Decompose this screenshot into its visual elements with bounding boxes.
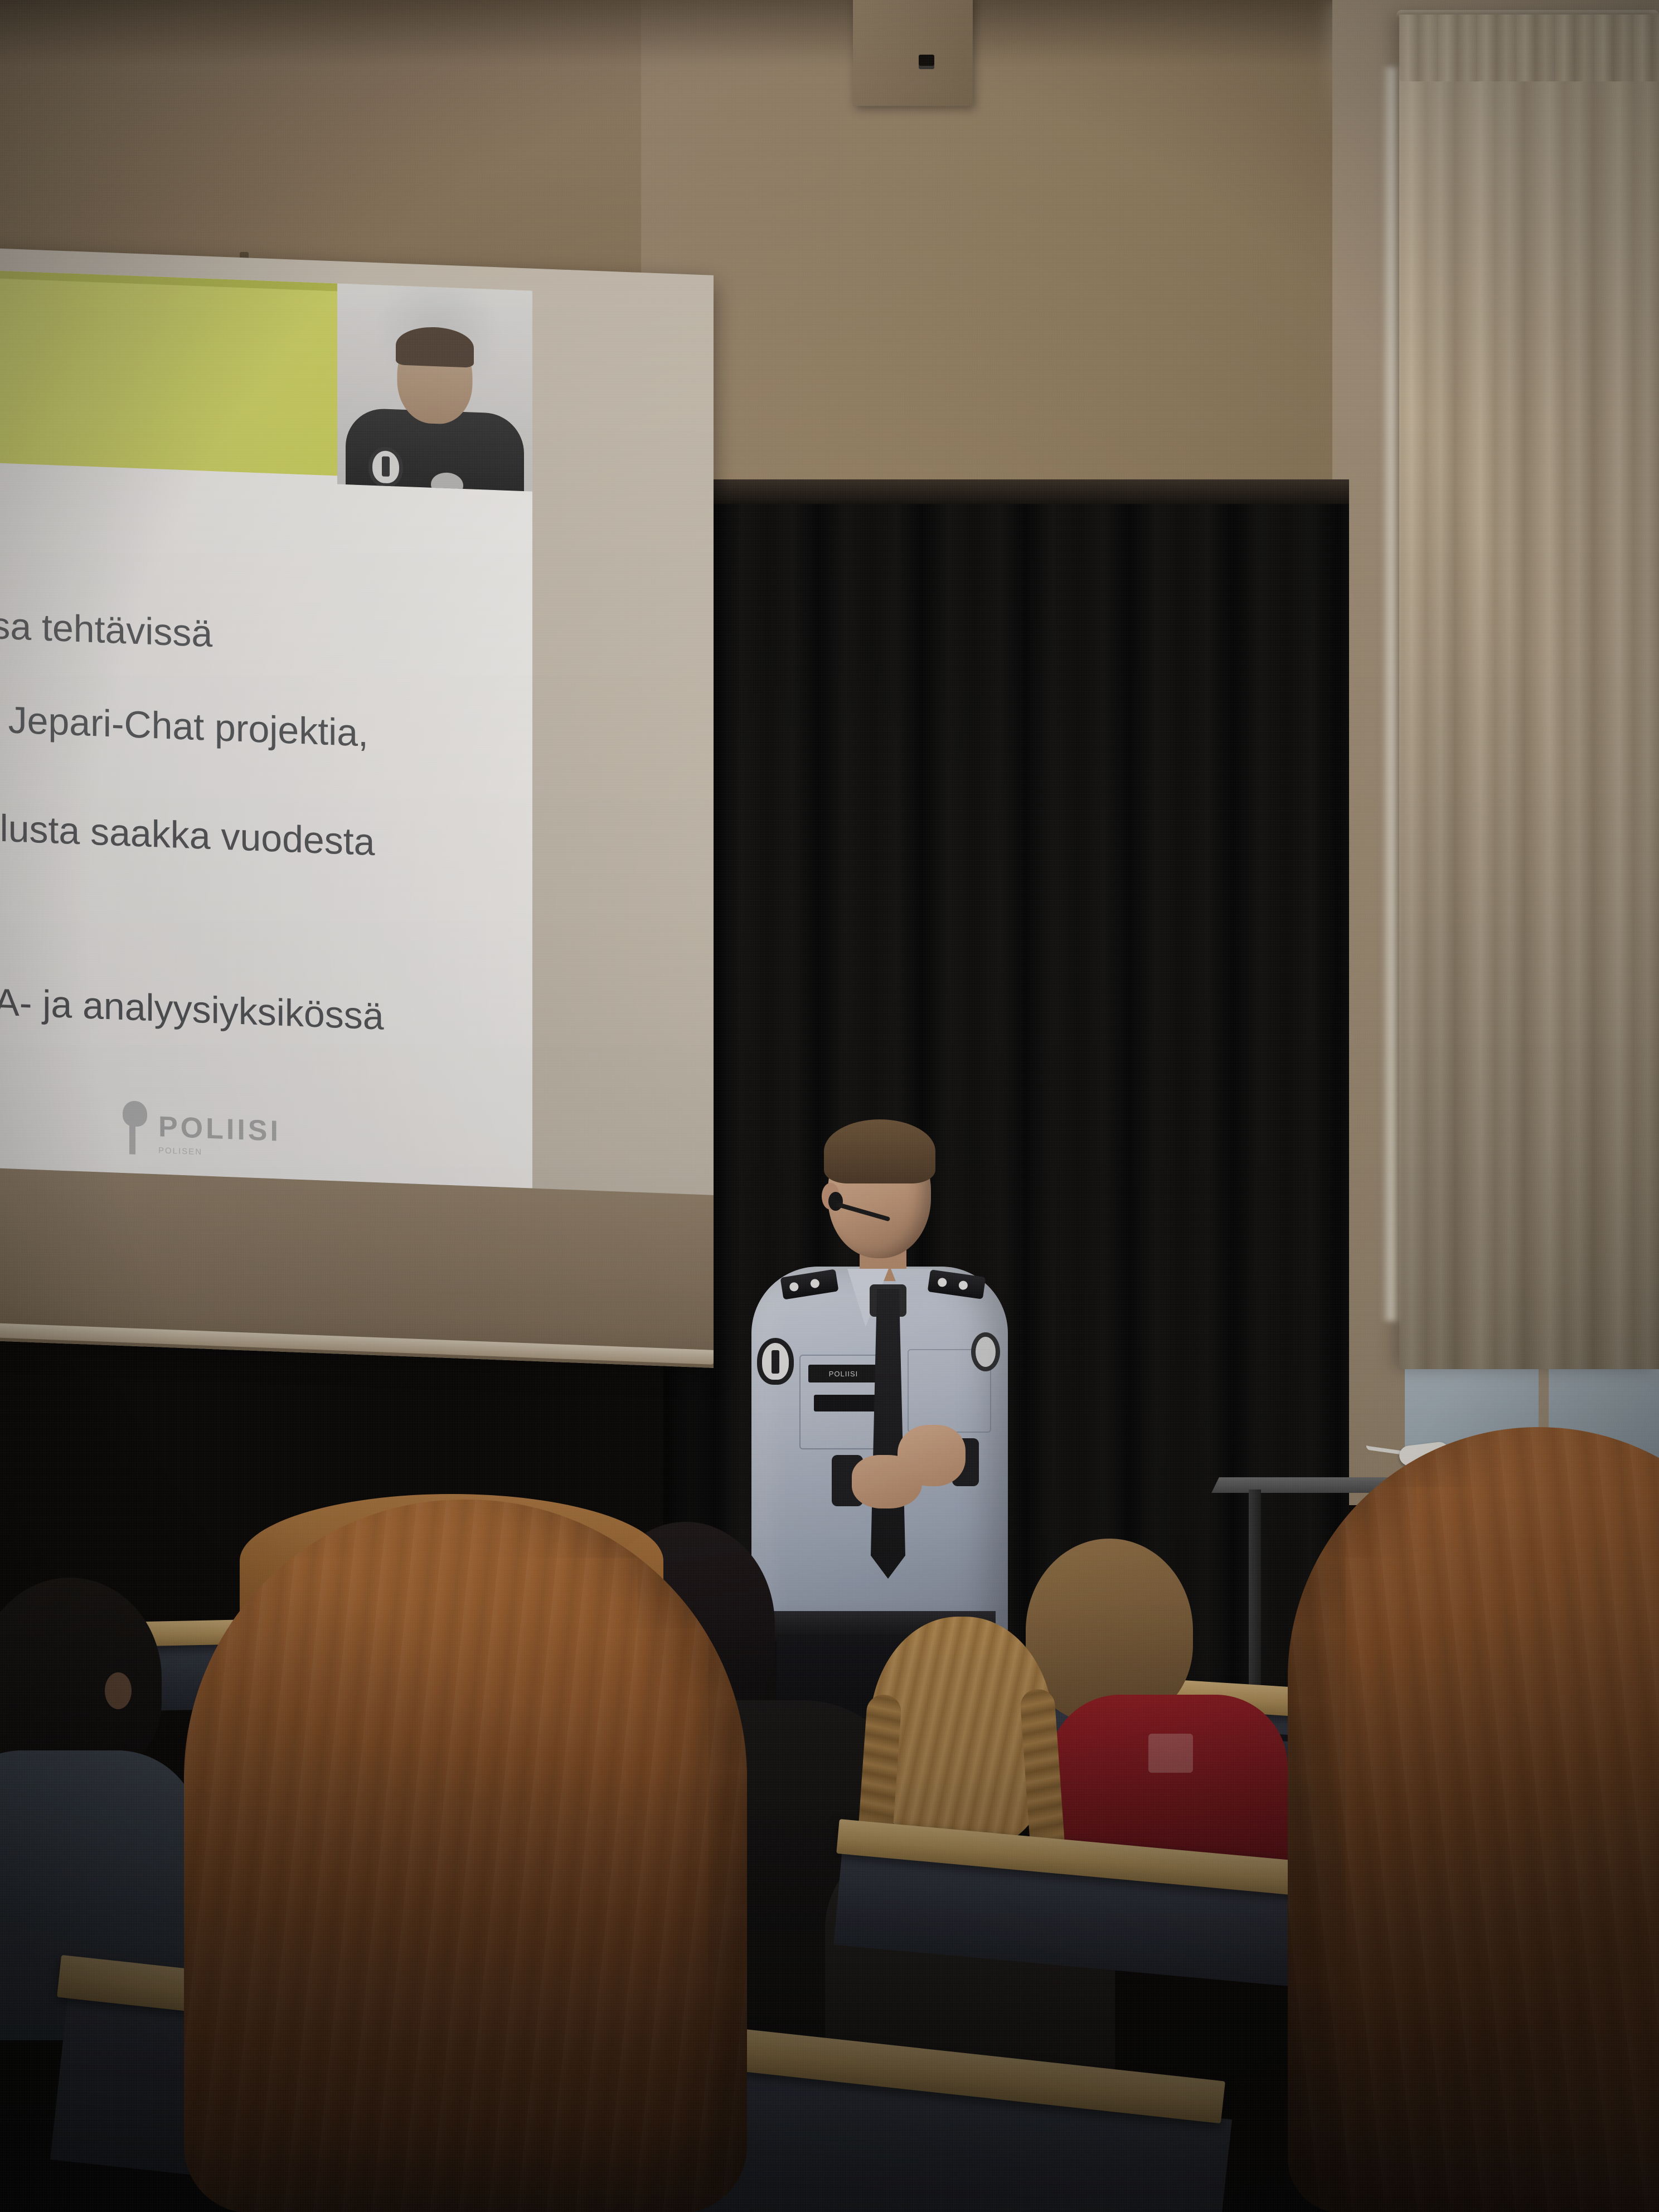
photo-scene: silauri 007 lussa erilaisissa tehtävissä [0,0,1659,2212]
audience-auburn-hair [1288,1427,1659,2212]
audience-ginger-hair [184,1500,747,2212]
curtain-edge-highlight [1381,67,1400,1321]
poliisi-emblem-icon [123,1100,148,1155]
slide-portrait-photo [337,262,532,492]
officer-shoulder-badge-icon [757,1338,794,1385]
rank-pip-icon [789,1282,799,1292]
curtain-shading [1399,14,1659,1369]
wall-speaker [853,0,973,106]
projected-image-area: silauri 007 lussa erilaisissa tehtävissä [0,262,532,1189]
poliisi-logo-text: POLIISI [158,1112,281,1146]
audience-head [0,1578,162,1778]
speaker-port-icon [919,55,934,69]
poliisi-logo: POLIISI POLISEN [123,1100,281,1160]
officer-nametag: POLIISI [808,1365,879,1382]
officer-shoulder-badge-icon [971,1332,1000,1371]
officer-hair [824,1119,935,1183]
audience-ear [105,1672,132,1709]
officer-hand-left [852,1455,922,1508]
slide-body: 007 lussa erilaisissa tehtävissä ynnistä… [0,454,532,1189]
headset-microphone-icon [828,1192,843,1211]
rank-pip-icon [958,1280,968,1291]
rank-pip-icon [937,1277,947,1287]
rank-pip-icon [810,1278,820,1288]
presentation-slide: silauri 007 lussa erilaisissa tehtävissä [0,262,532,1189]
officer-nametag-text: POLIISI [829,1370,858,1377]
presenter-police-officer: POLIISI [730,1093,1026,1650]
projection-screen: silauri 007 lussa erilaisissa tehtävissä [0,240,714,1368]
stage-curtain-rail [663,479,1349,504]
slide-header-band: silauri [0,262,532,483]
hoodie-print-icon [1148,1734,1193,1773]
